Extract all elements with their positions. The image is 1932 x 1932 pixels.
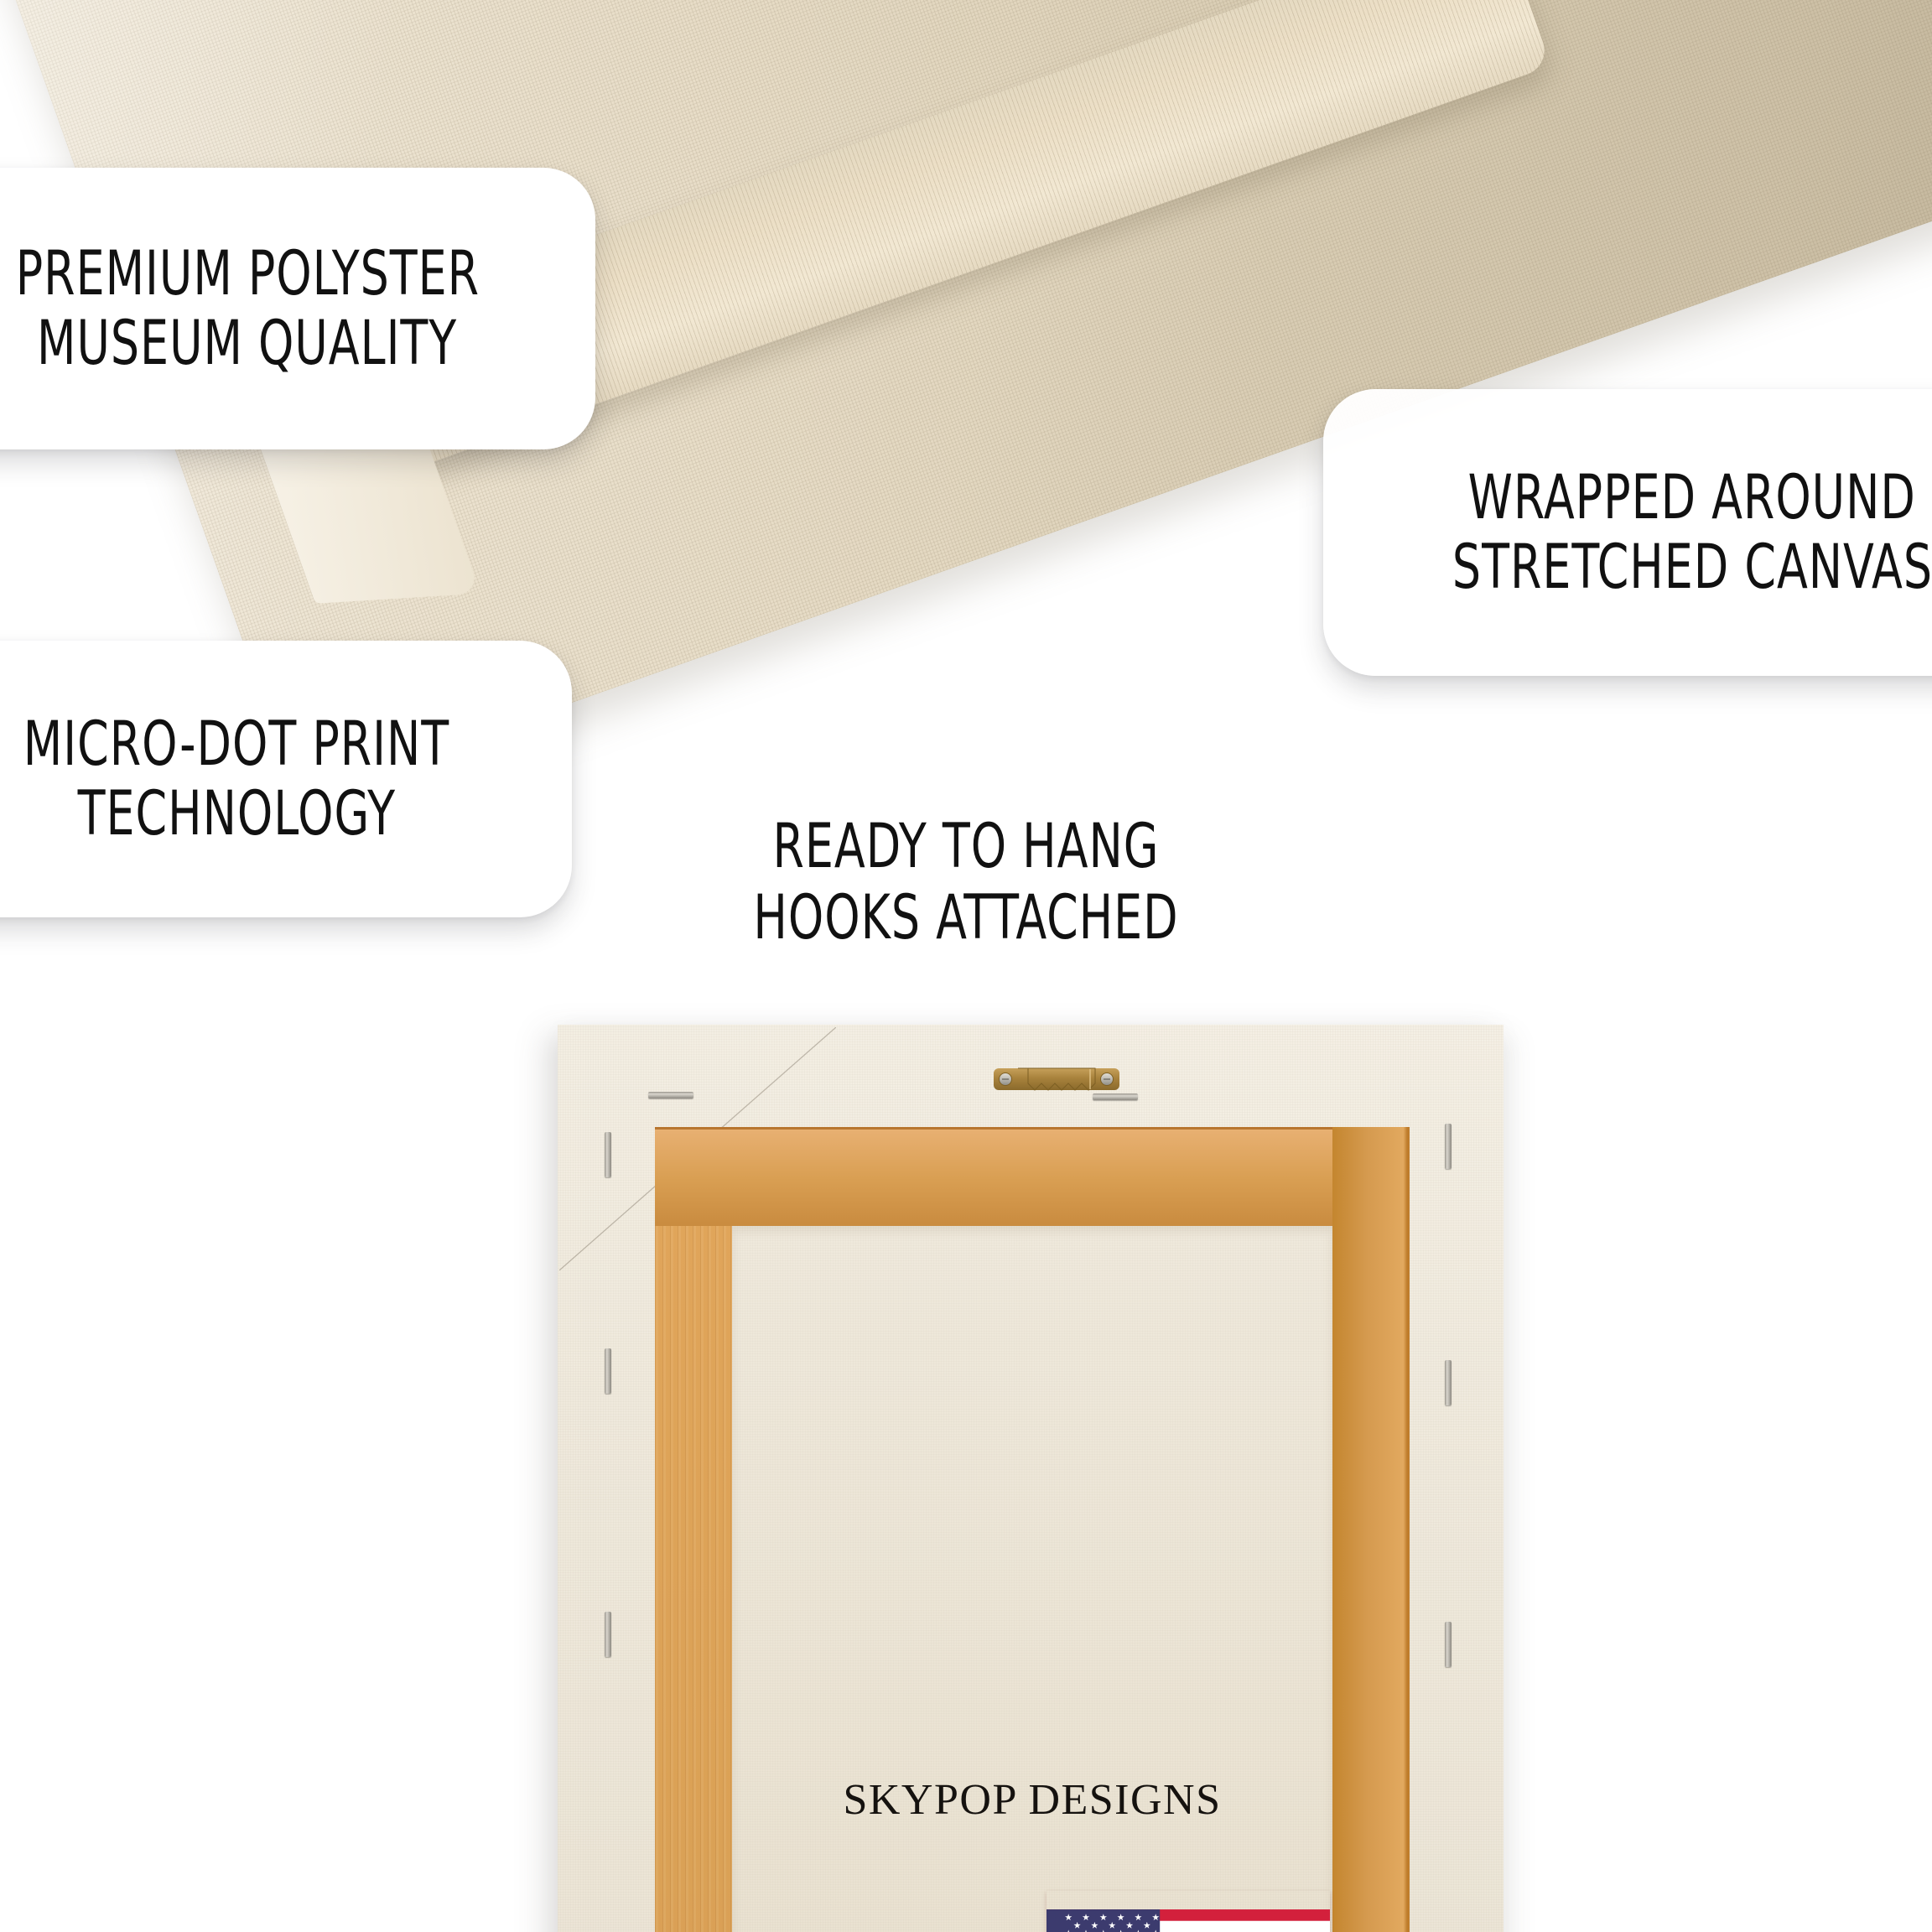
staple xyxy=(1445,1360,1452,1405)
callout-line-1: READY TO HANG xyxy=(724,812,1207,883)
staple xyxy=(605,1348,611,1394)
callout-premium-polyster: PREMIUM POLYSTER MUSEUM QUALITY xyxy=(0,168,595,449)
staple xyxy=(648,1092,693,1098)
product-photo-canvas-back: SKYPOP DESIGNS xyxy=(558,1025,1504,1932)
usa-flag-icon xyxy=(1046,1891,1330,1932)
callout-line-1: MICRO-DOT PRINT xyxy=(23,709,449,779)
canvas-reverse-texture xyxy=(732,1226,1332,1932)
sawtooth-hanger-icon xyxy=(993,1062,1120,1098)
callout-line-2: MUSEUM QUALITY xyxy=(37,309,457,378)
infographic-canvas: PREMIUM POLYSTER MUSEUM QUALITY WRAPPED … xyxy=(0,0,1932,1932)
callout-wrapped-around: WRAPPED AROUND STRETCHED CANVAS xyxy=(1323,389,1932,676)
canvas-reverse-panel: SKYPOP DESIGNS xyxy=(732,1226,1332,1932)
stretcher-bar-top xyxy=(655,1127,1410,1226)
staple xyxy=(1445,1124,1452,1169)
callout-line-2: HOOKS ATTACHED xyxy=(724,883,1207,954)
staple xyxy=(605,1612,611,1657)
callout-line-1: WRAPPED AROUND xyxy=(1468,463,1916,532)
callout-ready-to-hang: READY TO HANG HOOKS ATTACHED xyxy=(671,812,1261,953)
wooden-stretcher-bar: SKYPOP DESIGNS xyxy=(655,1127,1410,1932)
brand-name: SKYPOP DESIGNS xyxy=(732,1775,1332,1825)
callout-line-2: TECHNOLOGY xyxy=(77,779,395,849)
callout-micro-dot-print: MICRO-DOT PRINT TECHNOLOGY xyxy=(0,641,572,917)
callout-line-1: PREMIUM POLYSTER xyxy=(15,239,479,309)
staple xyxy=(1445,1622,1452,1667)
stretcher-bar-left xyxy=(655,1127,732,1932)
stretcher-bar-right xyxy=(1332,1127,1410,1932)
staple xyxy=(605,1132,611,1177)
callout-line-2: STRETCHED CANVAS xyxy=(1452,532,1932,602)
